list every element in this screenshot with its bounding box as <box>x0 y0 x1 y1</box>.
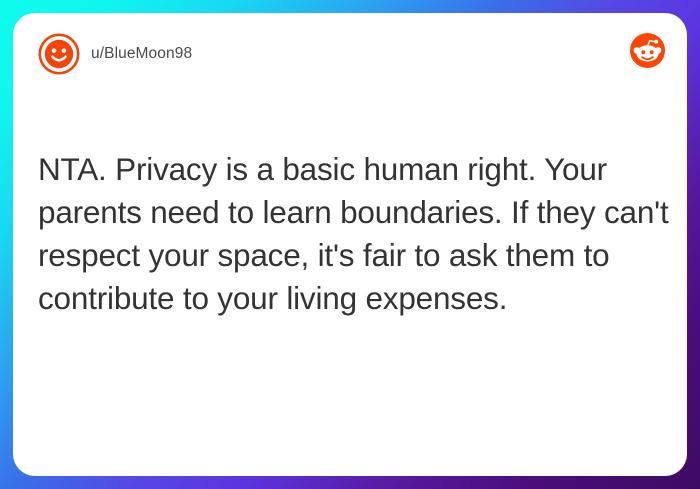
username-label: u/BlueMoon98 <box>91 33 192 75</box>
reddit-comment-card: u/BlueMoon98 NTA. Privacy is a basic hum… <box>13 13 687 476</box>
reddit-snoo-icon <box>630 33 665 68</box>
card-header: u/BlueMoon98 <box>13 13 687 101</box>
screenshot-root: u/BlueMoon98 NTA. Privacy is a basic hum… <box>0 0 700 489</box>
smiley-face-icon <box>38 33 80 75</box>
post-body-text: NTA. Privacy is a basic human right. You… <box>38 148 669 320</box>
